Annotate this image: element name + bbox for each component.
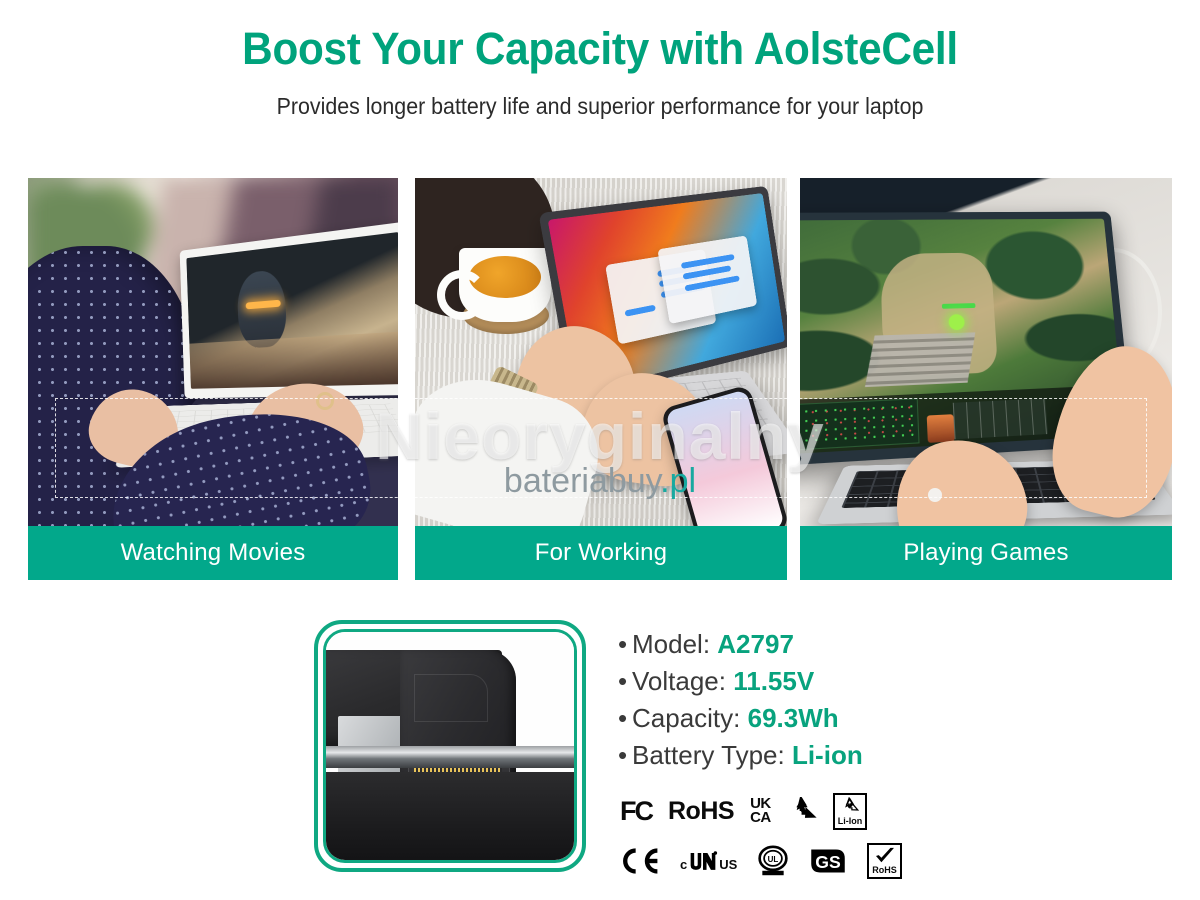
spec-value: 11.55V [733,666,814,696]
ce-icon [620,847,660,875]
fcc-icon: FC [620,796,652,827]
finger-ring [316,392,334,410]
spec-capacity: •Capacity: 69.3Wh [618,700,1038,737]
product-image-inner-border [323,629,577,863]
movie-character-face [236,268,287,348]
finger-ring [928,488,942,502]
spec-label: Model: [632,629,710,659]
spec-label: Capacity: [632,703,740,733]
ul-listed-icon: UL [757,845,789,877]
product-details-section: •Model: A2797 •Voltage: 11.55V •Capacity… [0,610,1200,900]
promo-page: Boost Your Capacity with AolsteCell Prov… [0,0,1200,900]
game-minimap [800,398,919,451]
chat-window-right [658,236,757,324]
hero-health-bar [942,303,976,309]
battery-metal-edge [326,746,574,768]
certification-row-1: FC RoHS UK CA [620,786,920,836]
spec-model: •Model: A2797 [618,626,1038,663]
ukca-icon: UK CA [750,797,771,826]
feature-panels: Watching Movies [0,178,1200,582]
panel-caption-playing-games: Playing Games [800,526,1172,580]
item-slots [953,398,1048,439]
battery-body [326,772,574,860]
rohs-icon: RoHS [668,797,734,826]
page-title: Boost Your Capacity with AolsteCell [36,26,1164,71]
photo-playing-games [800,178,1172,526]
cul-us-icon: c US [680,850,737,872]
spec-voltage: •Voltage: 11.55V [618,663,1038,700]
feature-panel-playing-games: Playing Games [800,178,1172,580]
header: Boost Your Capacity with AolsteCell Prov… [0,0,1200,120]
panel-caption-for-working: For Working [415,526,787,580]
battery-photo [326,632,574,860]
rohs-check-icon: RoHS [867,843,902,879]
svg-text:GS: GS [816,852,842,872]
recycle-icon [787,797,817,825]
spec-value: 69.3Wh [748,703,839,733]
bullet-icon: • [618,626,632,663]
spec-label: Battery Type: [632,740,785,770]
hero-portrait [926,414,954,443]
certification-row-2: c US UL [620,836,920,886]
svg-text:UL: UL [768,855,779,864]
spec-battery-type: •Battery Type: Li-ion [618,737,1038,774]
laptop-lid [180,221,398,398]
spec-value: Li-ion [792,740,863,770]
spec-list: •Model: A2797 •Voltage: 11.55V •Capacity… [618,626,1038,774]
laptop-screen [186,232,398,389]
li-ion-recycle-icon: Li-Ion [833,793,868,830]
feature-panel-watching-movies: Watching Movies [28,178,398,580]
product-image-frame [314,620,586,872]
spec-label: Voltage: [632,666,726,696]
gs-icon: GS [809,846,847,876]
photo-for-working [415,178,787,526]
bullet-icon: • [618,737,632,774]
certification-logos: FC RoHS UK CA [620,786,920,886]
feature-panel-for-working: For Working [415,178,787,580]
bullet-icon: • [618,663,632,700]
panel-caption-watching-movies: Watching Movies [28,526,398,580]
movie-scene-band [189,331,398,388]
page-subtitle: Provides longer battery life and superio… [42,93,1158,120]
game-stone-steps [865,332,975,387]
bullet-icon: • [618,700,632,737]
cup-handle [437,270,487,320]
photo-watching-movies [28,178,398,526]
spec-value: A2797 [717,629,794,659]
